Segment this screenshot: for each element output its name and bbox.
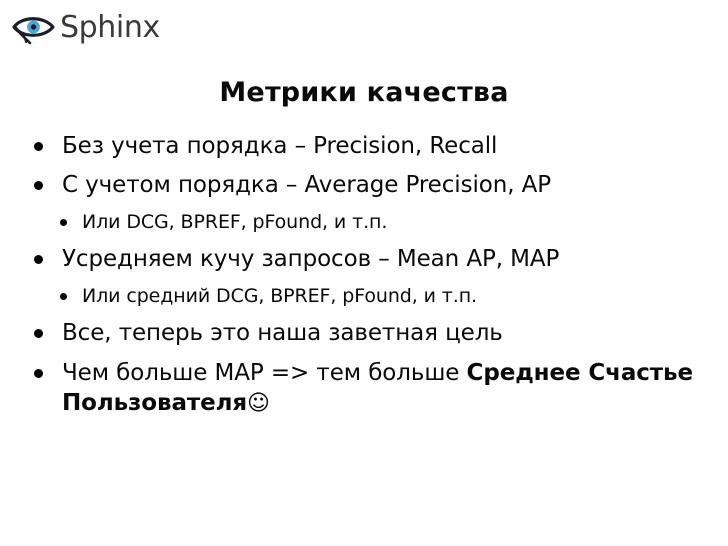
- list-item-label: Без учета порядка – Precision, Recall: [62, 131, 694, 161]
- round-bullet-icon: [34, 170, 62, 190]
- round-bullet-icon: [34, 358, 62, 378]
- list-item: Чем больше MAP => тем больше Среднее Сча…: [34, 358, 694, 419]
- sub-list-item-label: Или DCG, BPREF, pFound, и т.п.: [82, 210, 694, 235]
- round-bullet-icon: [34, 244, 62, 264]
- page-title: Метрики качества: [0, 78, 728, 108]
- list-item: Все, теперь это наша заветная цель: [34, 318, 694, 348]
- sphinx-wordmark: Sphinx: [60, 13, 160, 45]
- smiley-icon: ☺: [247, 391, 270, 416]
- list-item-label: Все, теперь это наша заветная цель: [62, 318, 694, 348]
- slide-canvas: Sphinx Метрики качества Без учета порядк…: [0, 0, 728, 546]
- list-item: Без учета порядка – Precision, Recall: [34, 131, 694, 161]
- sphinx-eye-icon: [12, 13, 56, 45]
- sphinx-logo: Sphinx: [12, 13, 160, 45]
- list-item-label-rich: Чем больше MAP => тем больше Среднее Сча…: [62, 358, 694, 419]
- sub-list-item: Или DCG, BPREF, pFound, и т.п.: [34, 210, 694, 235]
- list-item-label-plain: Чем больше MAP => тем больше: [62, 360, 467, 386]
- bullet-list: Без учета порядка – Precision, Recall С …: [34, 131, 694, 428]
- sub-list-item-label: Или средний DCG, BPREF, pFound, и т.п.: [82, 284, 694, 309]
- list-item-label: С учетом порядка – Average Precision, AP: [62, 170, 694, 200]
- round-bullet-icon: [34, 131, 62, 151]
- round-bullet-small-icon: [60, 284, 82, 300]
- sub-list-item: Или средний DCG, BPREF, pFound, и т.п.: [34, 284, 694, 309]
- list-item-label: Усредняем кучу запросов – Mean AP, MAP: [62, 244, 694, 274]
- round-bullet-icon: [34, 318, 62, 338]
- round-bullet-small-icon: [60, 210, 82, 226]
- list-item: С учетом порядка – Average Precision, AP: [34, 170, 694, 200]
- list-item: Усредняем кучу запросов – Mean AP, MAP: [34, 244, 694, 274]
